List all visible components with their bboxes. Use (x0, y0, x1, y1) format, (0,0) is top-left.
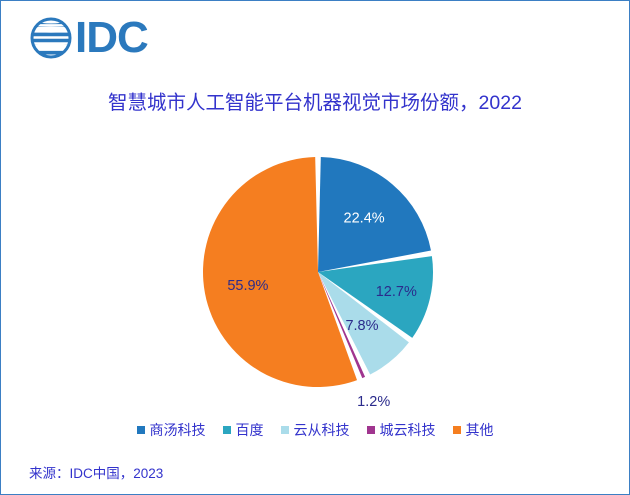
pie-chart: 22.4%12.7%7.8%1.2%55.9% (151, 146, 491, 411)
chart-page: IDC 智慧城市人工智能平台机器视觉市场份额，2022 22.4%12.7%7.… (0, 0, 630, 495)
pie-slice-label: 55.9% (227, 278, 268, 294)
source-note: 来源：IDC中国，2023 (29, 462, 163, 482)
legend-item[interactable]: 城云科技 (367, 420, 436, 440)
idc-logo-text: IDC (75, 16, 148, 60)
chart-legend: 商汤科技百度云从科技城云科技其他 (1, 420, 629, 440)
legend-item-label: 商汤科技 (150, 420, 206, 440)
legend-item[interactable]: 百度 (223, 420, 264, 440)
legend-item[interactable]: 其他 (453, 420, 494, 440)
legend-swatch-icon (453, 426, 461, 434)
pie-slice-label: 1.2% (357, 394, 390, 410)
legend-item-label: 百度 (236, 420, 264, 440)
pie-slice-group (203, 157, 433, 387)
pie-chart-svg: 22.4%12.7%7.8%1.2%55.9% (151, 146, 491, 411)
idc-logo: IDC (29, 15, 148, 61)
legend-swatch-icon (281, 426, 289, 434)
legend-swatch-icon (367, 426, 375, 434)
legend-item[interactable]: 云从科技 (281, 420, 350, 440)
legend-item[interactable]: 商汤科技 (137, 420, 206, 440)
legend-swatch-icon (137, 426, 145, 434)
pie-slice-label: 7.8% (345, 318, 378, 334)
legend-item-label: 城云科技 (380, 420, 436, 440)
legend-item-label: 云从科技 (294, 420, 350, 440)
pie-slice-label: 12.7% (376, 284, 417, 300)
legend-item-label: 其他 (466, 420, 494, 440)
legend-swatch-icon (223, 426, 231, 434)
pie-slice-label: 22.4% (344, 211, 385, 227)
globe-icon (29, 16, 73, 60)
chart-title: 智慧城市人工智能平台机器视觉市场份额，2022 (1, 86, 629, 115)
